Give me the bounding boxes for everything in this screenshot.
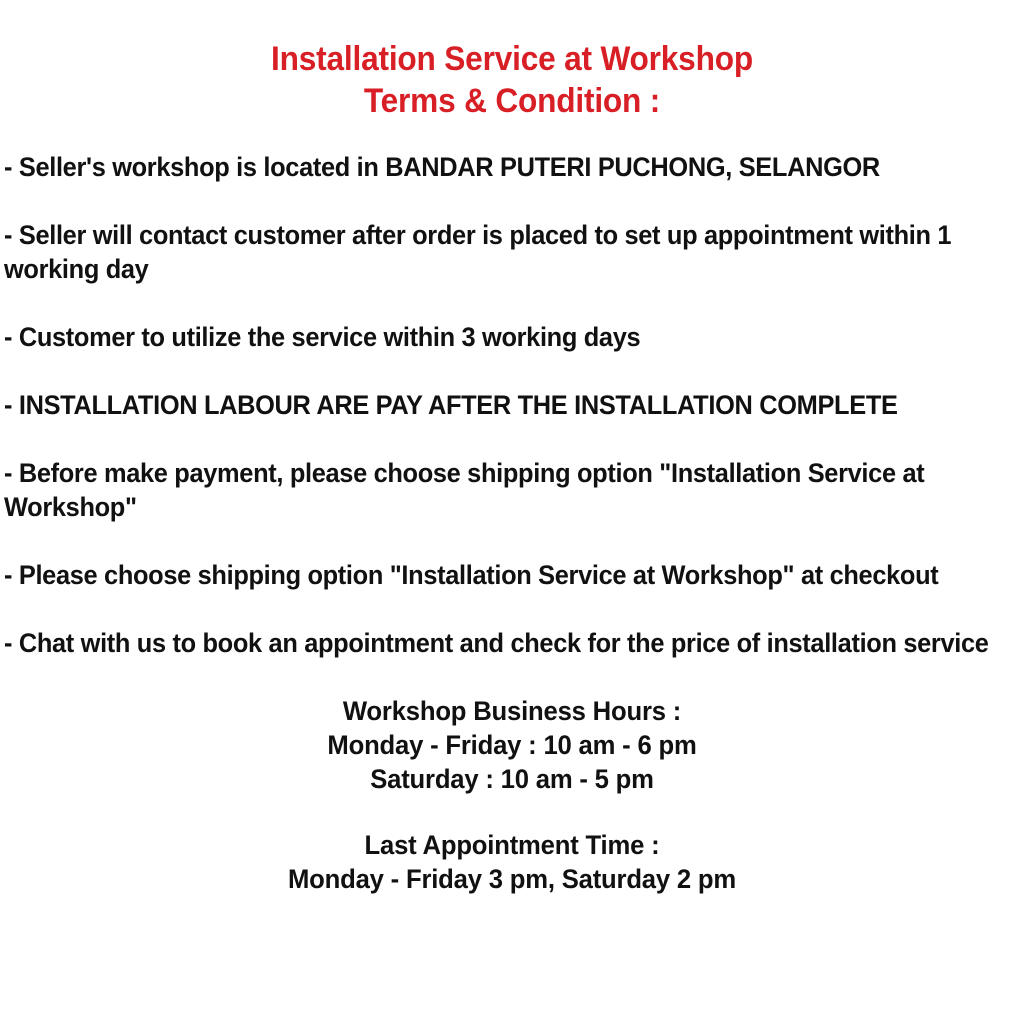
business-hours-heading: Workshop Business Hours : [26, 694, 999, 728]
footer-info: Workshop Business Hours : Monday - Frida… [0, 694, 1024, 896]
business-hours-group: Workshop Business Hours : Monday - Frida… [0, 694, 1024, 796]
last-appointment-times: Monday - Friday 3 pm, Saturday 2 pm [26, 862, 999, 896]
title-line-terms: Terms & Condition : [36, 80, 988, 122]
term-item-location: - Seller's workshop is located in BANDAR… [4, 150, 1021, 184]
terms-list: - Seller's workshop is located in BANDAR… [0, 150, 1024, 660]
term-item-chat-booking: - Chat with us to book an appointment an… [4, 626, 1021, 660]
business-hours-weekday: Monday - Friday : 10 am - 6 pm [26, 728, 999, 762]
term-item-labour-payment: - INSTALLATION LABOUR ARE PAY AFTER THE … [4, 388, 1021, 422]
term-item-utilize-service: - Customer to utilize the service within… [4, 320, 1021, 354]
business-hours-saturday: Saturday : 10 am - 5 pm [26, 762, 999, 796]
terms-and-conditions-page: Installation Service at Workshop Terms &… [0, 0, 1024, 1024]
last-appointment-heading: Last Appointment Time : [26, 828, 999, 862]
term-item-before-payment-shipping: - Before make payment, please choose shi… [4, 456, 1021, 524]
term-item-seller-contact: - Seller will contact customer after ord… [4, 218, 1021, 286]
title-line-service: Installation Service at Workshop [36, 38, 988, 80]
last-appointment-group: Last Appointment Time : Monday - Friday … [0, 828, 1024, 896]
term-item-checkout-shipping: - Please choose shipping option "Install… [4, 558, 1021, 592]
page-title: Installation Service at Workshop Terms &… [0, 0, 1024, 122]
